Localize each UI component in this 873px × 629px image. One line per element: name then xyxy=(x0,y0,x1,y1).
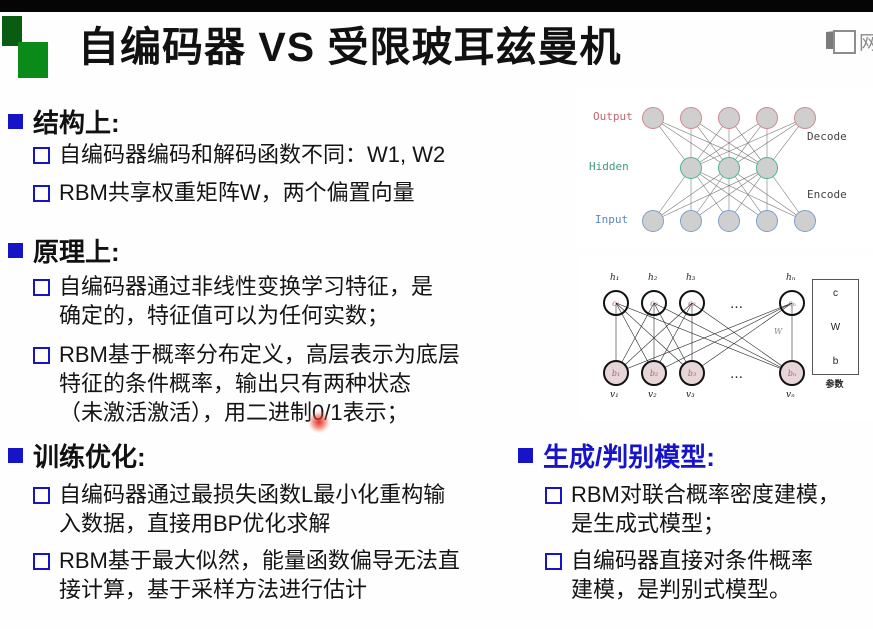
ae-node-hidden-3 xyxy=(756,157,778,179)
watermark: 网 xyxy=(826,24,873,58)
list-item: RBM共享权重矩阵W，两个偏置向量 xyxy=(33,178,415,207)
list-item-text: 自编码器通过非线性变换学习特征，是 确定的，特征值可以为任何实数； xyxy=(59,272,433,330)
list-item: RBM基于概率分布定义，高层表示为底层 特征的条件概率，输出只有两种状态 （未激… xyxy=(33,340,460,427)
bullet-hollow-square-icon xyxy=(33,347,50,364)
ae-node-input-2 xyxy=(680,210,702,232)
rbm-hidden-label-4: hₙ xyxy=(786,273,795,283)
list-item: 自编码器通过最损失函数L最小化重构输 入数据，直接用BP优化求解 xyxy=(33,480,445,538)
rbm-visible-ellipsis: … xyxy=(730,367,743,382)
ae-node-output-3 xyxy=(718,107,740,129)
rbm-visible-node-3: b₃ xyxy=(679,360,705,386)
bullet-hollow-square-icon xyxy=(33,553,50,570)
rbm-hidden-node-3: c₃ xyxy=(679,290,705,316)
ae-node-input-4 xyxy=(756,210,778,232)
list-item-text: RBM共享权重矩阵W，两个偏置向量 xyxy=(59,178,415,207)
rbm-visible-node-1: b₁ xyxy=(603,360,629,386)
bullet-hollow-square-icon xyxy=(33,279,50,296)
param-c: c xyxy=(813,288,858,299)
param-w: W xyxy=(813,322,858,333)
rbm-hidden-label-2: h₂ xyxy=(648,273,657,283)
bullet-square-icon xyxy=(8,243,23,258)
layer-label-output: Output xyxy=(593,110,633,123)
ae-node-input-5 xyxy=(794,210,816,232)
rbm-weight-label: W xyxy=(774,327,782,336)
ae-node-output-4 xyxy=(756,107,778,129)
list-item: RBM对联合概率密度建模， 是生成式模型； xyxy=(545,480,840,538)
param-box-caption: 参数 xyxy=(812,377,857,390)
rbm-visible-label-1: v₁ xyxy=(610,390,619,400)
list-item: 自编码器直接对条件概率 建模，是判别式模型。 xyxy=(545,546,813,604)
ae-node-output-1 xyxy=(642,107,664,129)
logo-square-light xyxy=(18,42,48,78)
ae-node-input-3 xyxy=(718,210,740,232)
list-item-text: 自编码器通过最损失函数L最小化重构输 入数据，直接用BP优化求解 xyxy=(59,480,445,538)
list-item: 自编码器编码和解码函数不同：W1, W2 xyxy=(33,140,445,169)
section-heading-structure: 结构上: xyxy=(8,103,120,140)
list-item-text: RBM对联合概率密度建模， 是生成式模型； xyxy=(571,480,840,538)
rbm-hidden-ellipsis: … xyxy=(730,297,743,312)
list-item-text: 自编码器编码和解码函数不同：W1, W2 xyxy=(59,140,445,169)
rbm-hidden-label-3: h₃ xyxy=(686,273,695,283)
section-heading-principle: 原理上: xyxy=(8,232,120,269)
bullet-hollow-square-icon xyxy=(33,487,50,504)
heading-text: 原理上: xyxy=(33,232,120,269)
list-item: RBM基于最大似然，能量函数偏导无法直 接计算，基于采样方法进行估计 xyxy=(33,546,460,604)
rbm-hidden-node-1: c₁ xyxy=(603,290,629,316)
ae-node-output-5 xyxy=(794,107,816,129)
book-icon xyxy=(826,29,854,53)
heading-text: 生成/判别模型: xyxy=(543,437,715,474)
rbm-hidden-node-2: c₂ xyxy=(641,290,667,316)
rbm-visible-label-2: v₂ xyxy=(648,390,657,400)
bullet-square-icon xyxy=(8,448,23,463)
rbm-visible-label-4: vₙ xyxy=(786,390,795,400)
ae-node-output-2 xyxy=(680,107,702,129)
layer-label-hidden: Hidden xyxy=(589,160,629,173)
heading-text: 结构上: xyxy=(33,103,120,140)
layer-label-input: Input xyxy=(595,213,628,226)
ae-node-hidden-2 xyxy=(718,157,740,179)
list-item: 自编码器通过非线性变换学习特征，是 确定的，特征值可以为任何实数； xyxy=(33,272,433,330)
autoencoder-diagram: Output Hidden Input Decode Encode xyxy=(575,88,873,248)
mouse-cursor-dot xyxy=(308,411,330,433)
heading-text: 训练优化: xyxy=(33,437,146,474)
slide-title: 自编码器 VS 受限玻耳兹曼机 xyxy=(78,18,718,76)
rbm-parameter-box: c W b xyxy=(812,279,859,375)
rbm-hidden-label-1: h₁ xyxy=(610,273,619,283)
rbm-hidden-node-4: cₙ xyxy=(779,290,805,316)
side-label-encode: Encode xyxy=(807,188,847,201)
rbm-diagram: c₁h₁b₁v₁c₂h₂b₂v₂c₃h₃b₃v₃cₙhₙbₙvₙ……W c W … xyxy=(578,255,873,420)
list-item-text: RBM基于概率分布定义，高层表示为底层 特征的条件概率，输出只有两种状态 （未激… xyxy=(59,340,460,427)
ae-node-input-1 xyxy=(642,210,664,232)
bullet-square-icon xyxy=(8,114,23,129)
ae-node-hidden-1 xyxy=(680,157,702,179)
side-label-decode: Decode xyxy=(807,130,847,143)
section-heading-training: 训练优化: xyxy=(8,437,146,474)
rbm-visible-label-3: v₃ xyxy=(686,390,695,400)
watermark-text: 网 xyxy=(859,28,873,55)
param-b: b xyxy=(813,356,858,367)
list-item-text: RBM基于最大似然，能量函数偏导无法直 接计算，基于采样方法进行估计 xyxy=(59,546,460,604)
bullet-hollow-square-icon xyxy=(545,553,562,570)
rbm-visible-node-4: bₙ xyxy=(779,360,805,386)
bullet-hollow-square-icon xyxy=(33,147,50,164)
top-black-bar xyxy=(0,0,873,12)
section-heading-generative: 生成/判别模型: xyxy=(518,437,715,474)
bullet-hollow-square-icon xyxy=(545,487,562,504)
bullet-square-icon xyxy=(518,448,533,463)
list-item-text: 自编码器直接对条件概率 建模，是判别式模型。 xyxy=(571,546,813,604)
rbm-visible-node-2: b₂ xyxy=(641,360,667,386)
bullet-hollow-square-icon xyxy=(33,185,50,202)
green-squares-logo xyxy=(2,16,46,78)
